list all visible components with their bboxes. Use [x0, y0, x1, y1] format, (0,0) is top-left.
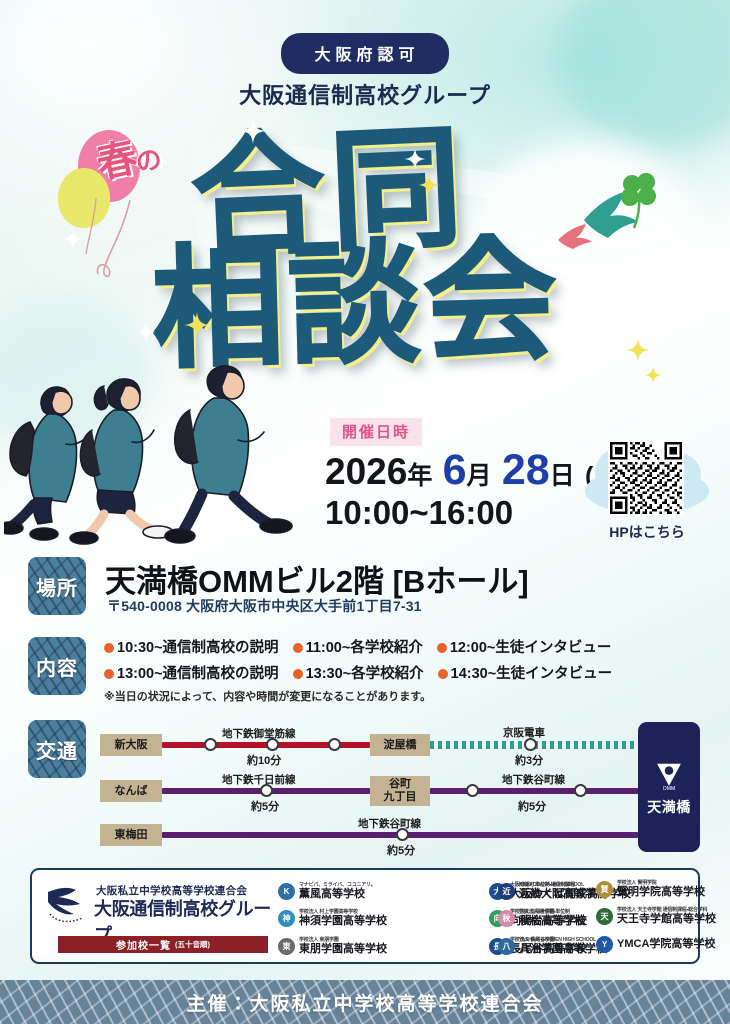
school-item[interactable]: 神学校法人 村上学園高等学校神須学園高等学校 [278, 905, 485, 932]
date-month: 6 [443, 446, 467, 494]
line-label-midosuji: 地下鉄御堂筋線 [222, 726, 296, 741]
transit-diagram: 新大阪 地下鉄御堂筋線 約10分 淀屋橋 京阪電車 約3分 なんば 地下鉄千日前… [100, 722, 700, 852]
approval-badge: 大阪府認可 [284, 36, 445, 71]
school-item[interactable]: 賢学校法人 賢明学院賢明学院高等学校 [596, 876, 716, 903]
date-year: 2026 [325, 451, 407, 492]
school-item[interactable]: 東学校法人 東朋学園東朋学園高等学校 [278, 933, 485, 960]
station-higashi-umeda: 東梅田 [100, 824, 162, 846]
rail-tanimachi-upper [430, 788, 638, 794]
duration-sennichimae: 約5分 [251, 798, 279, 814]
schedule-item-label: 11:00~各学校紹介 [306, 640, 423, 656]
destination-name: 天満橋 [647, 797, 691, 817]
school-item[interactable]: Kマナビバ、ミライバ、ココニアリ。薫風高等学校 [278, 878, 485, 905]
schedule-item: 12:00~生徒インタビュー [437, 636, 612, 657]
bullet-icon [293, 669, 303, 679]
school-item[interactable]: YYMCA学院高等学校 [596, 931, 716, 958]
schedule-item: 13:00~通信制高校の説明 [104, 662, 279, 683]
school-name: 薫風高等学校 [299, 889, 376, 900]
duration-midosuji: 約10分 [247, 752, 281, 768]
main-title-line2: 相談会 [150, 237, 671, 372]
bullet-icon [438, 669, 448, 679]
school-name: 東朋学園高等学校 [299, 944, 387, 955]
schedule-item-label: 13:00~通信制高校の説明 [117, 666, 279, 682]
date-line: 2026年 6月 28日 (日) [325, 446, 627, 495]
sparkle-icon [62, 228, 84, 250]
station-shin-osaka: 新大阪 [100, 734, 162, 756]
badge-place: 場所 [28, 557, 86, 615]
participants-label: 参加校一覧 [116, 937, 171, 952]
poster-root: 大阪府認可 大阪通信制高校グループ 春の 合同 相談会 [0, 0, 730, 1024]
date-day-unit: 日 [550, 462, 575, 490]
duration-keihan: 約3分 [515, 752, 543, 768]
qr-caption: HPはこちら [585, 522, 709, 542]
rail-node [328, 738, 341, 751]
school-name: 賢明学院高等学校 [617, 887, 705, 898]
schedule-list: 10:30~通信制高校の説明 11:00~各学校紹介 12:00~生徒インタビュ… [104, 636, 664, 704]
rail-node [204, 738, 217, 751]
badge-content: 内容 [28, 637, 86, 695]
schedule-note: ※当日の状況によって、内容や時間が変更になることがあります。 [104, 688, 664, 704]
schedule-row: 10:30~通信制高校の説明 11:00~各学校紹介 12:00~生徒インタビュ… [104, 636, 664, 657]
school-mark-icon: K [278, 883, 295, 900]
schedule-item: 11:00~各学校紹介 [293, 636, 423, 657]
school-mark-icon: 賢 [596, 881, 613, 898]
svg-text:OMM: OMM [663, 786, 675, 791]
school-mark-icon: 天 [596, 908, 613, 925]
bullet-icon [437, 643, 447, 653]
station-tanimachi9chome: 谷町 九丁目 [370, 776, 430, 806]
station-name-line2: 九丁目 [384, 791, 417, 804]
schedule-item: 13:30~各学校紹介 [293, 662, 424, 683]
rail-node [574, 784, 587, 797]
schedule-item-label: 12:00~生徒インタビュー [450, 640, 612, 656]
students-illustration [4, 356, 304, 546]
approval-badge-wrap: 大阪府認可 [0, 36, 730, 71]
schedule-item: 10:30~通信制高校の説明 [104, 636, 279, 657]
station-namba: なんば [100, 780, 162, 802]
duration-tanimachi-lower: 約5分 [387, 842, 415, 858]
school-mark-icon: Y [596, 936, 613, 953]
bullet-icon [104, 669, 114, 679]
school-mark-icon: 神 [278, 910, 295, 927]
venue-name: 天満橋OMMビル2階 [Bホール] [105, 556, 529, 601]
school-logo-grid-right: 賢学校法人 賢明学院賢明学院高等学校 天学校法人 天王寺学館 通信制課程・総合学… [596, 876, 716, 958]
schedule-row: 13:00~通信制高校の説明 13:30~各学校紹介 14:30~生徒インタビュ… [104, 662, 664, 683]
organizer-label: 主催：大阪私立中学校高等学校連合会 [186, 989, 543, 1016]
line-label-tanimachi: 地下鉄谷町線 [502, 772, 565, 787]
schedule-item-label: 13:30~各学校紹介 [306, 666, 424, 682]
line-label-keihan: 京阪電車 [503, 725, 545, 740]
school-name: YMCA学院高等学校 [617, 939, 715, 950]
group-name: 大阪通信制高校グループ [0, 78, 730, 110]
rail-node [466, 784, 479, 797]
badge-access: 交通 [28, 720, 86, 778]
participants-kana: (五十音順) [175, 939, 210, 950]
date-time: 10:00~16:00 [325, 494, 513, 532]
school-name: 神須学園高等学校 [299, 916, 387, 927]
omm-logo-icon: OMM [652, 757, 686, 791]
school-item[interactable]: 天学校法人 天王寺学館 通信制課程・総合学科天王寺学館高等学校 [596, 903, 716, 930]
date-label: 開催日時 [330, 418, 422, 446]
destination-tenmabashi: OMM 天満橋 [638, 722, 700, 852]
date-month-unit: 月 [467, 462, 492, 490]
bullet-icon [293, 643, 303, 653]
date-year-unit: 年 [407, 462, 432, 490]
line-label-sennichimae: 地下鉄千日前線 [222, 772, 296, 787]
bird-crest-icon [44, 882, 90, 924]
qr-code-icon[interactable] [608, 440, 684, 516]
schedule-item: 14:30~生徒インタビュー [438, 662, 613, 683]
bullet-icon [104, 643, 114, 653]
venue-address: 〒540-0008 大阪府大阪市中央区大手前1丁目7-31 [107, 596, 422, 616]
school-name: 天王寺学館高等学校 [617, 914, 716, 925]
line-label-tanimachi-lower: 地下鉄谷町線 [358, 816, 421, 831]
date-day: 28 [502, 446, 550, 494]
school-mark-icon: 東 [278, 938, 295, 955]
station-name-line1: 谷町 [389, 778, 411, 791]
main-title: 合同 相談会 [110, 128, 670, 365]
footer: 主催：大阪私立中学校高等学校連合会 [0, 980, 730, 1024]
participants-bar: 参加校一覧 (五十音順) [58, 936, 268, 953]
sparkle-icon [644, 366, 662, 384]
schedule-item-label: 14:30~生徒インタビュー [451, 666, 613, 682]
duration-tanimachi: 約5分 [518, 798, 546, 814]
schedule-item-label: 10:30~通信制高校の説明 [117, 640, 279, 656]
station-yodoyabashi: 淀屋橋 [370, 734, 430, 756]
